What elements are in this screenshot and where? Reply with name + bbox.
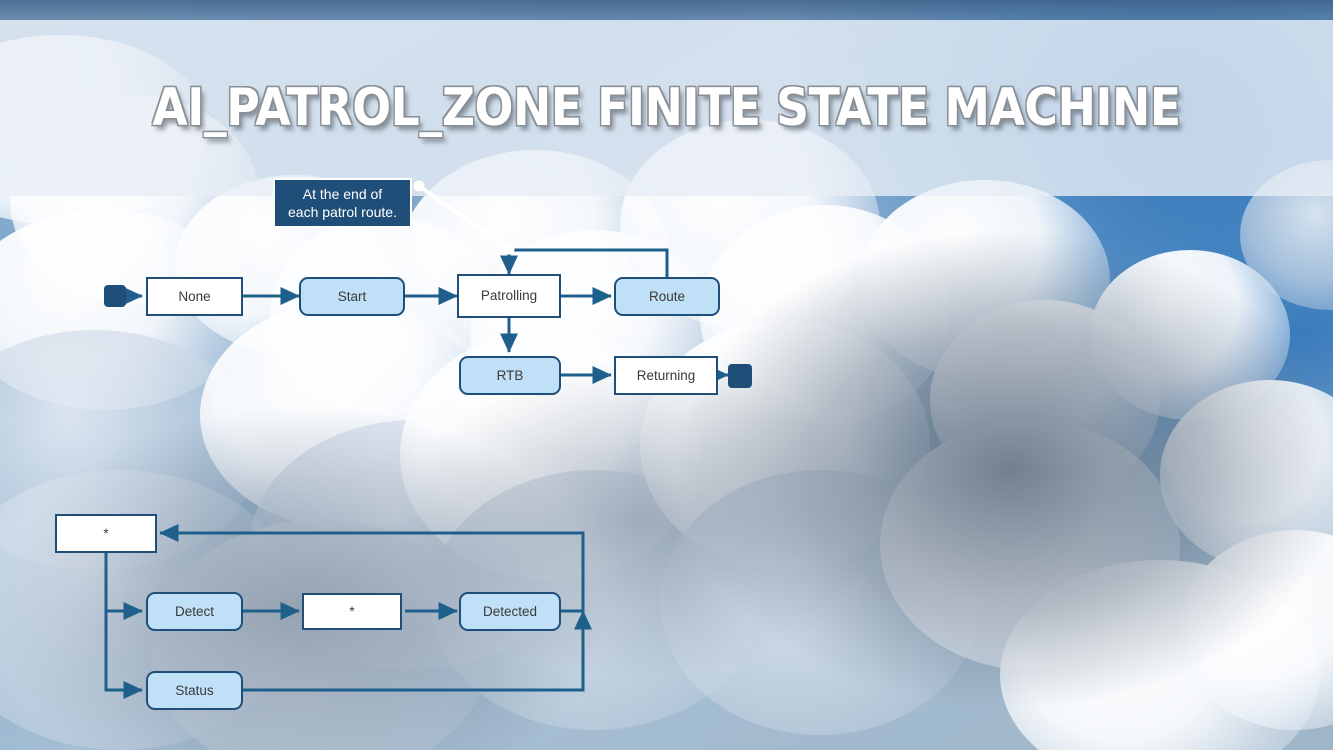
fsm-diagram: None Start Patrolling Route RTB Returnin… xyxy=(0,0,1333,750)
callout-text: At the end of each patrol route. xyxy=(288,185,397,222)
slide-canvas: AI_PATROL_ZONE FINITE STATE MACHINE xyxy=(0,0,1333,750)
callout-leader xyxy=(0,0,1333,750)
patrol-route-callout[interactable]: At the end of each patrol route. xyxy=(273,178,412,228)
callout-line-2: each patrol route. xyxy=(288,204,397,220)
callout-line-1: At the end of xyxy=(303,186,382,202)
